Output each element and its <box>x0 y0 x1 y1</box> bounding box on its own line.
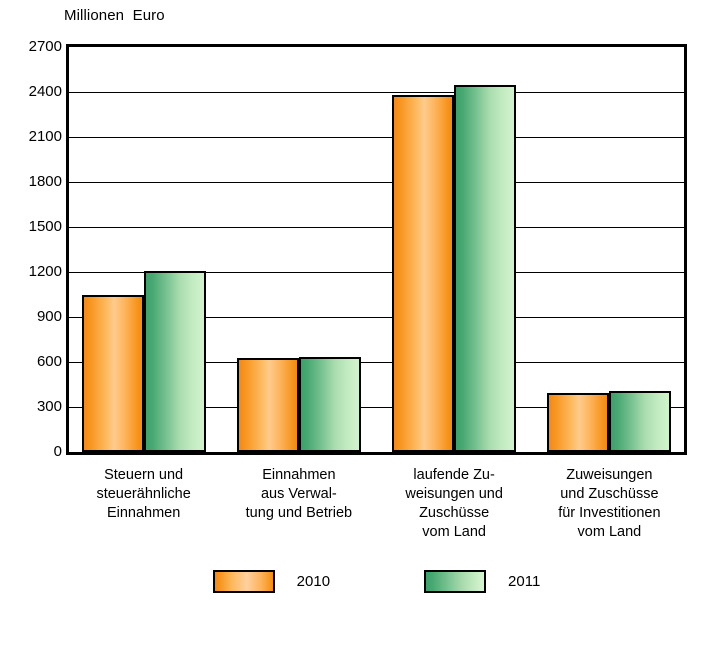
y-tick-label: 600 <box>4 354 62 369</box>
y-tick-label: 2400 <box>4 84 62 99</box>
y-tick-label: 300 <box>4 399 62 414</box>
gridlines-layer <box>69 47 684 452</box>
y-tick-label: 1800 <box>4 174 62 189</box>
gridline <box>69 272 684 273</box>
y-tick-label: 0 <box>4 444 62 459</box>
y-tick-label: 1500 <box>4 219 62 234</box>
y-tick-label: 900 <box>4 309 62 324</box>
gridline <box>69 362 684 363</box>
y-axis-unit-title: Millionen Euro <box>64 7 165 24</box>
x-category-label-4: Zuweisungen und Zuschüsse für Investitio… <box>532 466 687 556</box>
x-category-label-2: Einnahmen aus Verwal- tung und Betrieb <box>221 466 376 556</box>
legend-label-2011: 2011 <box>508 574 540 589</box>
bar-chart: Millionen Euro 2700240021001800150012009… <box>0 0 714 664</box>
legend-swatch-icon-2010 <box>213 570 275 593</box>
legend-swatch-icon-2011 <box>424 570 486 593</box>
legend-item-2011[interactable]: 2011 <box>424 570 540 593</box>
gridline <box>69 407 684 408</box>
gridline <box>69 317 684 318</box>
y-axis-tick-labels: 2700240021001800150012009006003000 <box>0 44 62 455</box>
legend-label-2010: 2010 <box>297 574 330 589</box>
gridline <box>69 137 684 138</box>
x-category-label-1: Steuern und steuerähnliche Einnahmen <box>66 466 221 556</box>
gridline <box>69 182 684 183</box>
chart-legend: 2010 2011 <box>66 570 687 610</box>
x-axis-category-labels: Steuern und steuerähnliche EinnahmenEinn… <box>66 466 687 556</box>
plot-area <box>66 44 687 455</box>
y-tick-label: 2100 <box>4 129 62 144</box>
x-category-label-3: laufende Zu- weisungen und Zuschüsse vom… <box>377 466 532 556</box>
gridline <box>69 92 684 93</box>
y-tick-label: 1200 <box>4 264 62 279</box>
legend-item-2010[interactable]: 2010 <box>213 570 330 593</box>
y-tick-label: 2700 <box>4 39 62 54</box>
gridline <box>69 227 684 228</box>
